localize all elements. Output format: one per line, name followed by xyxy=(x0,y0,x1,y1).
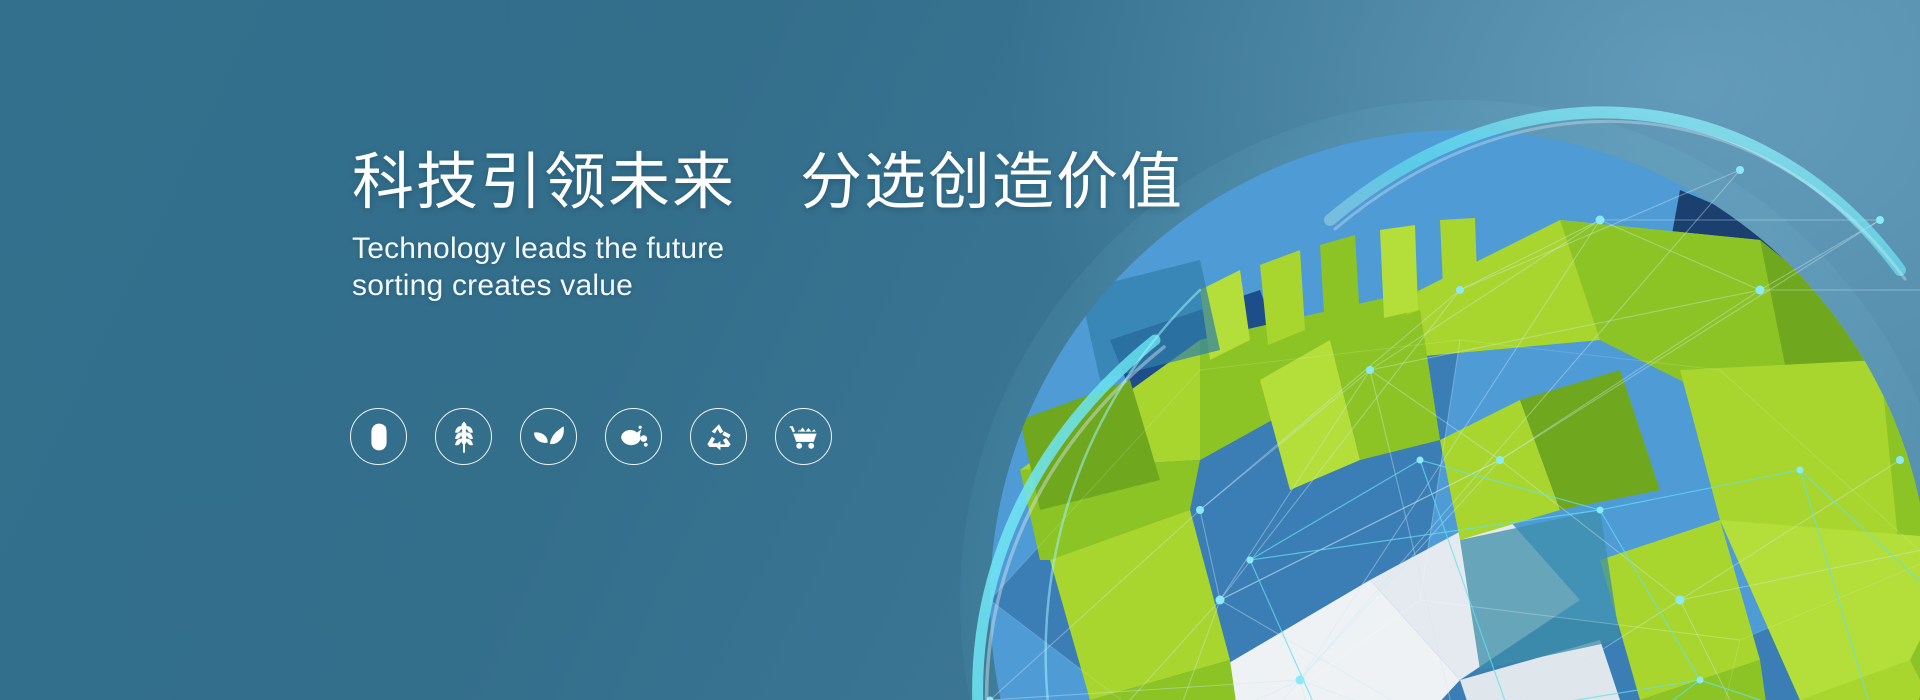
seed-icon xyxy=(366,422,392,452)
page-title: 科技引领未来 分选创造价值 xyxy=(352,150,1112,217)
icon-chip-fish[interactable] xyxy=(605,408,662,465)
hero-copy: 科技引领未来 分选创造价值 Technology leads the futur… xyxy=(352,150,1112,305)
hero-banner: 科技引领未来 分选创造价值 Technology leads the futur… xyxy=(0,0,1920,700)
industry-icon-row xyxy=(350,408,832,465)
icon-chip-seed[interactable] xyxy=(350,408,407,465)
icon-chip-leaf[interactable] xyxy=(520,408,577,465)
subtitle-line-2: sorting creates value xyxy=(352,268,1112,305)
icon-chip-wheat[interactable] xyxy=(435,408,492,465)
low-poly-globe-artwork xyxy=(900,40,1920,700)
fish-icon xyxy=(618,424,650,450)
icon-chip-mine-cart[interactable] xyxy=(775,408,832,465)
leaf-icon xyxy=(533,425,565,449)
subtitle: Technology leads the future sorting crea… xyxy=(352,231,1112,305)
icon-chip-recycle[interactable] xyxy=(690,408,747,465)
network-mesh xyxy=(990,170,1920,700)
recycle-icon xyxy=(704,422,734,452)
subtitle-line-1: Technology leads the future xyxy=(352,231,1112,268)
wheat-icon xyxy=(450,420,478,454)
mine-cart-icon xyxy=(788,424,820,450)
network-nodes xyxy=(987,166,1920,700)
